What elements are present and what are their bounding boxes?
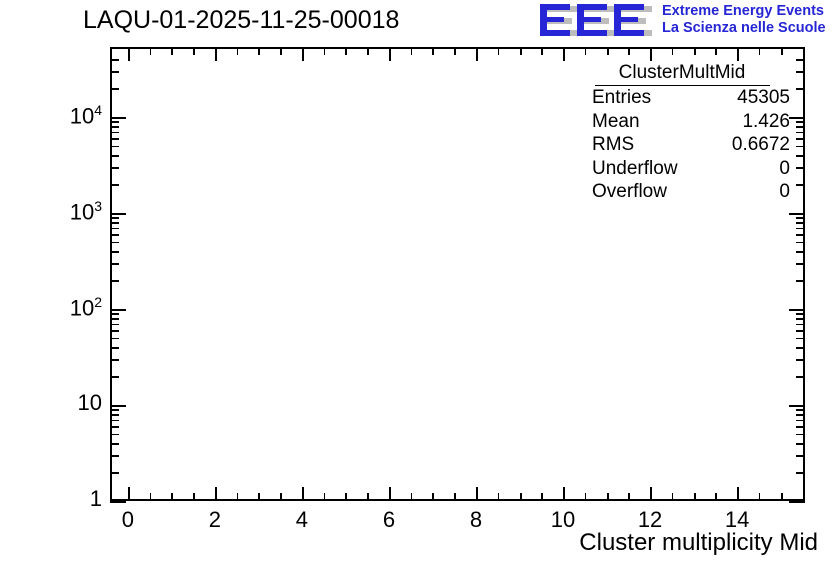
x-tick-minor-top xyxy=(411,47,413,55)
x-tick-top xyxy=(389,47,391,61)
x-tick-top xyxy=(171,47,173,55)
y-tick-minor xyxy=(110,472,119,474)
x-tick-top xyxy=(563,47,565,61)
x-axis-label: 8 xyxy=(446,507,506,533)
x-tick-minor-top xyxy=(759,47,761,55)
x-tick-minor-top xyxy=(193,47,195,55)
y-tick-minor-right xyxy=(796,184,805,186)
x-tick-minor xyxy=(150,493,152,501)
x-tick xyxy=(694,493,696,501)
y-tick-right xyxy=(789,309,805,311)
eee-logo-text: Extreme Energy Events La Scienza nelle S… xyxy=(662,3,826,37)
y-tick-minor-right xyxy=(796,217,805,219)
y-tick-minor xyxy=(110,455,119,457)
x-tick-top xyxy=(258,47,260,55)
stats-row-value: 0 xyxy=(779,157,790,181)
y-tick-minor xyxy=(110,121,119,123)
x-tick xyxy=(302,487,304,501)
x-tick xyxy=(258,493,260,501)
y-tick-minor-right xyxy=(796,434,805,436)
y-tick-minor-right xyxy=(796,121,805,123)
stats-box: ClusterMultMid Entries45305Mean1.426RMS0… xyxy=(570,62,794,204)
y-tick-minor-right xyxy=(796,455,805,457)
x-tick-top xyxy=(476,47,478,61)
y-axis-label: 103 xyxy=(20,198,102,225)
x-tick xyxy=(563,487,565,501)
x-tick xyxy=(476,487,478,501)
y-tick-right xyxy=(789,501,805,503)
x-tick-top xyxy=(345,47,347,55)
y-tick-minor-right xyxy=(796,228,805,230)
y-tick-minor xyxy=(110,146,119,148)
x-axis-label: 6 xyxy=(359,507,419,533)
stats-row-key: Overflow xyxy=(592,180,667,204)
y-tick-minor-right xyxy=(796,313,805,315)
x-tick-top xyxy=(302,47,304,61)
y-tick-minor-right xyxy=(796,138,805,140)
x-tick-minor-top xyxy=(715,47,717,55)
y-tick xyxy=(110,501,126,503)
x-tick-top xyxy=(650,47,652,61)
y-tick-minor xyxy=(110,138,119,140)
x-tick-minor xyxy=(628,493,630,501)
y-tick-right xyxy=(789,213,805,215)
y-tick-minor-right xyxy=(796,318,805,320)
y-tick-minor xyxy=(110,414,119,416)
x-axis-label: 4 xyxy=(272,507,332,533)
x-tick-minor-top xyxy=(541,47,543,55)
x-tick-minor xyxy=(280,493,282,501)
y-tick-minor-right xyxy=(796,324,805,326)
y-tick-minor xyxy=(110,434,119,436)
stats-row: Underflow0 xyxy=(570,157,794,181)
x-tick-minor xyxy=(324,493,326,501)
x-tick-top xyxy=(128,47,130,61)
root-canvas: LAQU-01-2025-11-25-00018 xyxy=(0,0,836,572)
x-tick xyxy=(171,493,173,501)
eee-logo: Extreme Energy Events La Scienza nelle S… xyxy=(538,2,834,42)
stats-row-value: 45305 xyxy=(737,86,790,110)
y-tick xyxy=(110,117,126,119)
stats-row-value: 1.426 xyxy=(742,110,790,134)
x-tick-minor-top xyxy=(367,47,369,55)
y-tick-minor-right xyxy=(796,71,805,73)
y-tick-minor xyxy=(110,242,119,244)
eee-logo-line1: Extreme Energy Events xyxy=(662,3,826,20)
y-tick-right xyxy=(789,405,805,407)
stats-row-key: Entries xyxy=(592,86,651,110)
y-tick-minor-right xyxy=(796,146,805,148)
x-tick xyxy=(432,493,434,501)
y-tick-minor xyxy=(110,59,119,61)
y-tick xyxy=(110,213,126,215)
y-tick-minor-right xyxy=(796,263,805,265)
stats-row: Overflow0 xyxy=(570,180,794,204)
x-tick-minor xyxy=(672,493,674,501)
y-tick-minor-right xyxy=(796,347,805,349)
x-tick-top xyxy=(607,47,609,55)
y-tick-minor-right xyxy=(796,426,805,428)
y-axis-label: 10 xyxy=(20,390,102,416)
x-tick-top xyxy=(432,47,434,55)
y-tick-minor xyxy=(110,126,119,128)
y-tick-minor xyxy=(110,184,119,186)
y-tick-minor-right xyxy=(796,155,805,157)
y-tick-minor-right xyxy=(796,88,805,90)
x-tick-minor xyxy=(715,493,717,501)
y-tick-minor-right xyxy=(796,330,805,332)
y-tick-minor-right xyxy=(796,280,805,282)
x-tick-minor-top xyxy=(237,47,239,55)
y-tick-minor xyxy=(110,234,119,236)
y-tick-minor xyxy=(110,324,119,326)
x-tick-minor xyxy=(585,493,587,501)
x-tick-minor-top xyxy=(628,47,630,55)
y-tick-minor xyxy=(110,132,119,134)
y-tick-minor-right xyxy=(796,443,805,445)
page-title: LAQU-01-2025-11-25-00018 xyxy=(83,6,399,35)
x-tick-minor-top xyxy=(324,47,326,55)
x-tick-minor-top xyxy=(672,47,674,55)
y-tick xyxy=(110,309,126,311)
y-tick-minor-right xyxy=(796,338,805,340)
y-tick-minor-right xyxy=(796,234,805,236)
stats-row-value: 0 xyxy=(779,180,790,204)
x-tick xyxy=(215,487,217,501)
y-tick-minor xyxy=(110,263,119,265)
y-tick-minor xyxy=(110,347,119,349)
y-tick-minor-right xyxy=(796,359,805,361)
x-tick-minor-top xyxy=(280,47,282,55)
y-tick-minor xyxy=(110,420,119,422)
y-tick-minor xyxy=(110,155,119,157)
x-tick-minor-top xyxy=(498,47,500,55)
y-axis-label: 1 xyxy=(20,486,102,512)
y-tick xyxy=(110,405,126,407)
y-tick-minor-right xyxy=(796,126,805,128)
y-tick-minor xyxy=(110,338,119,340)
x-tick-minor-top xyxy=(454,47,456,55)
y-tick-minor xyxy=(110,222,119,224)
x-tick-minor-top xyxy=(150,47,152,55)
y-axis-label: 104 xyxy=(20,102,102,129)
x-axis-label: 2 xyxy=(185,507,245,533)
x-tick-minor xyxy=(367,493,369,501)
y-tick-minor xyxy=(110,217,119,219)
y-tick-minor xyxy=(110,359,119,361)
y-tick-minor xyxy=(110,318,119,320)
x-tick-top xyxy=(215,47,217,61)
y-tick-minor-right xyxy=(796,251,805,253)
x-tick-minor-top xyxy=(585,47,587,55)
y-tick-minor-right xyxy=(796,222,805,224)
x-tick xyxy=(781,493,783,501)
y-tick-minor xyxy=(110,330,119,332)
x-tick-minor xyxy=(237,493,239,501)
y-tick-minor xyxy=(110,409,119,411)
y-tick-minor-right xyxy=(796,132,805,134)
y-axis-label: 102 xyxy=(20,294,102,321)
x-tick-minor xyxy=(193,493,195,501)
x-axis-title: Cluster multiplicity Mid xyxy=(579,529,818,557)
x-tick-top xyxy=(781,47,783,55)
x-tick-top xyxy=(520,47,522,55)
x-axis-label: 0 xyxy=(98,507,158,533)
x-tick xyxy=(737,487,739,501)
x-tick xyxy=(389,487,391,501)
x-tick-top xyxy=(694,47,696,55)
y-tick-minor xyxy=(110,426,119,428)
x-tick-top xyxy=(737,47,739,61)
y-tick-minor-right xyxy=(796,59,805,61)
stats-row: Mean1.426 xyxy=(570,110,794,134)
x-tick-minor xyxy=(759,493,761,501)
y-tick-minor-right xyxy=(796,409,805,411)
eee-logo-line2: La Scienza nelle Scuole xyxy=(662,20,826,37)
y-tick-minor xyxy=(110,251,119,253)
y-tick-minor xyxy=(110,88,119,90)
y-tick-minor-right xyxy=(796,167,805,169)
stats-row-key: RMS xyxy=(592,133,634,157)
y-tick-minor-right xyxy=(796,376,805,378)
x-tick-minor xyxy=(454,493,456,501)
y-tick-minor xyxy=(110,280,119,282)
x-tick-minor xyxy=(541,493,543,501)
stats-title: ClusterMultMid xyxy=(595,62,770,86)
eee-logo-mark xyxy=(538,2,656,40)
x-tick xyxy=(650,487,652,501)
y-tick-minor xyxy=(110,71,119,73)
x-tick xyxy=(128,487,130,501)
y-tick-minor xyxy=(110,228,119,230)
stats-row-value: 0.6672 xyxy=(732,133,790,157)
x-tick xyxy=(345,493,347,501)
y-tick-minor-right xyxy=(796,472,805,474)
y-tick-minor xyxy=(110,313,119,315)
stats-row-key: Underflow xyxy=(592,157,678,181)
stats-rows: Entries45305Mean1.426RMS0.6672Underflow0… xyxy=(570,86,794,204)
y-tick-minor-right xyxy=(796,414,805,416)
x-tick-minor xyxy=(498,493,500,501)
stats-row-key: Mean xyxy=(592,110,640,134)
y-tick-minor-right xyxy=(796,242,805,244)
y-tick-minor xyxy=(110,167,119,169)
x-tick xyxy=(607,493,609,501)
y-tick-minor xyxy=(110,443,119,445)
y-tick-minor xyxy=(110,376,119,378)
x-tick xyxy=(520,493,522,501)
stats-row: RMS0.6672 xyxy=(570,133,794,157)
y-tick-minor-right xyxy=(796,420,805,422)
stats-row: Entries45305 xyxy=(570,86,794,110)
x-tick-minor xyxy=(411,493,413,501)
